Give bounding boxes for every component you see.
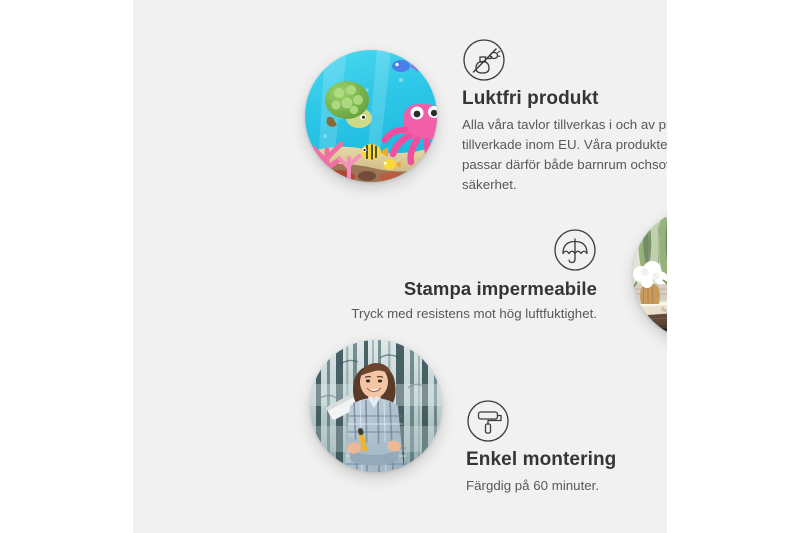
product-feature-infographic: Luktfri produkt Alla våra tavlor tillver… bbox=[0, 0, 800, 533]
feature-waterproof: Stampa impermeabile Tryck med resistens … bbox=[297, 228, 597, 324]
feature-title: Stampa impermeabile bbox=[297, 278, 597, 299]
feature-body: Färgdig på 60 minuter. bbox=[466, 476, 667, 496]
no-odour-spray-bottle-icon bbox=[462, 38, 506, 82]
woman-with-paint-roller-forest-photo bbox=[310, 340, 442, 472]
feature-odorless: Luktfri produkt Alla våra tavlor tillver… bbox=[462, 38, 667, 196]
content-panel: Luktfri produkt Alla våra tavlor tillver… bbox=[133, 0, 667, 533]
feature-easy-install: Enkel montering Färgdig på 60 minuter. bbox=[466, 399, 667, 496]
bathroom-tropical-wallpaper-photo bbox=[633, 208, 667, 340]
feature-body: Alla våra tavlor tillverkas i och av pro… bbox=[462, 115, 667, 196]
feature-title: Luktfri produkt bbox=[462, 88, 667, 110]
umbrella-icon bbox=[553, 228, 597, 272]
underwater-cartoon-mural-photo bbox=[305, 50, 437, 182]
feature-body: Tryck med resistens mot hög luftfuktighe… bbox=[297, 304, 597, 324]
paint-roller-icon bbox=[466, 399, 510, 443]
feature-title: Enkel montering bbox=[466, 449, 667, 471]
